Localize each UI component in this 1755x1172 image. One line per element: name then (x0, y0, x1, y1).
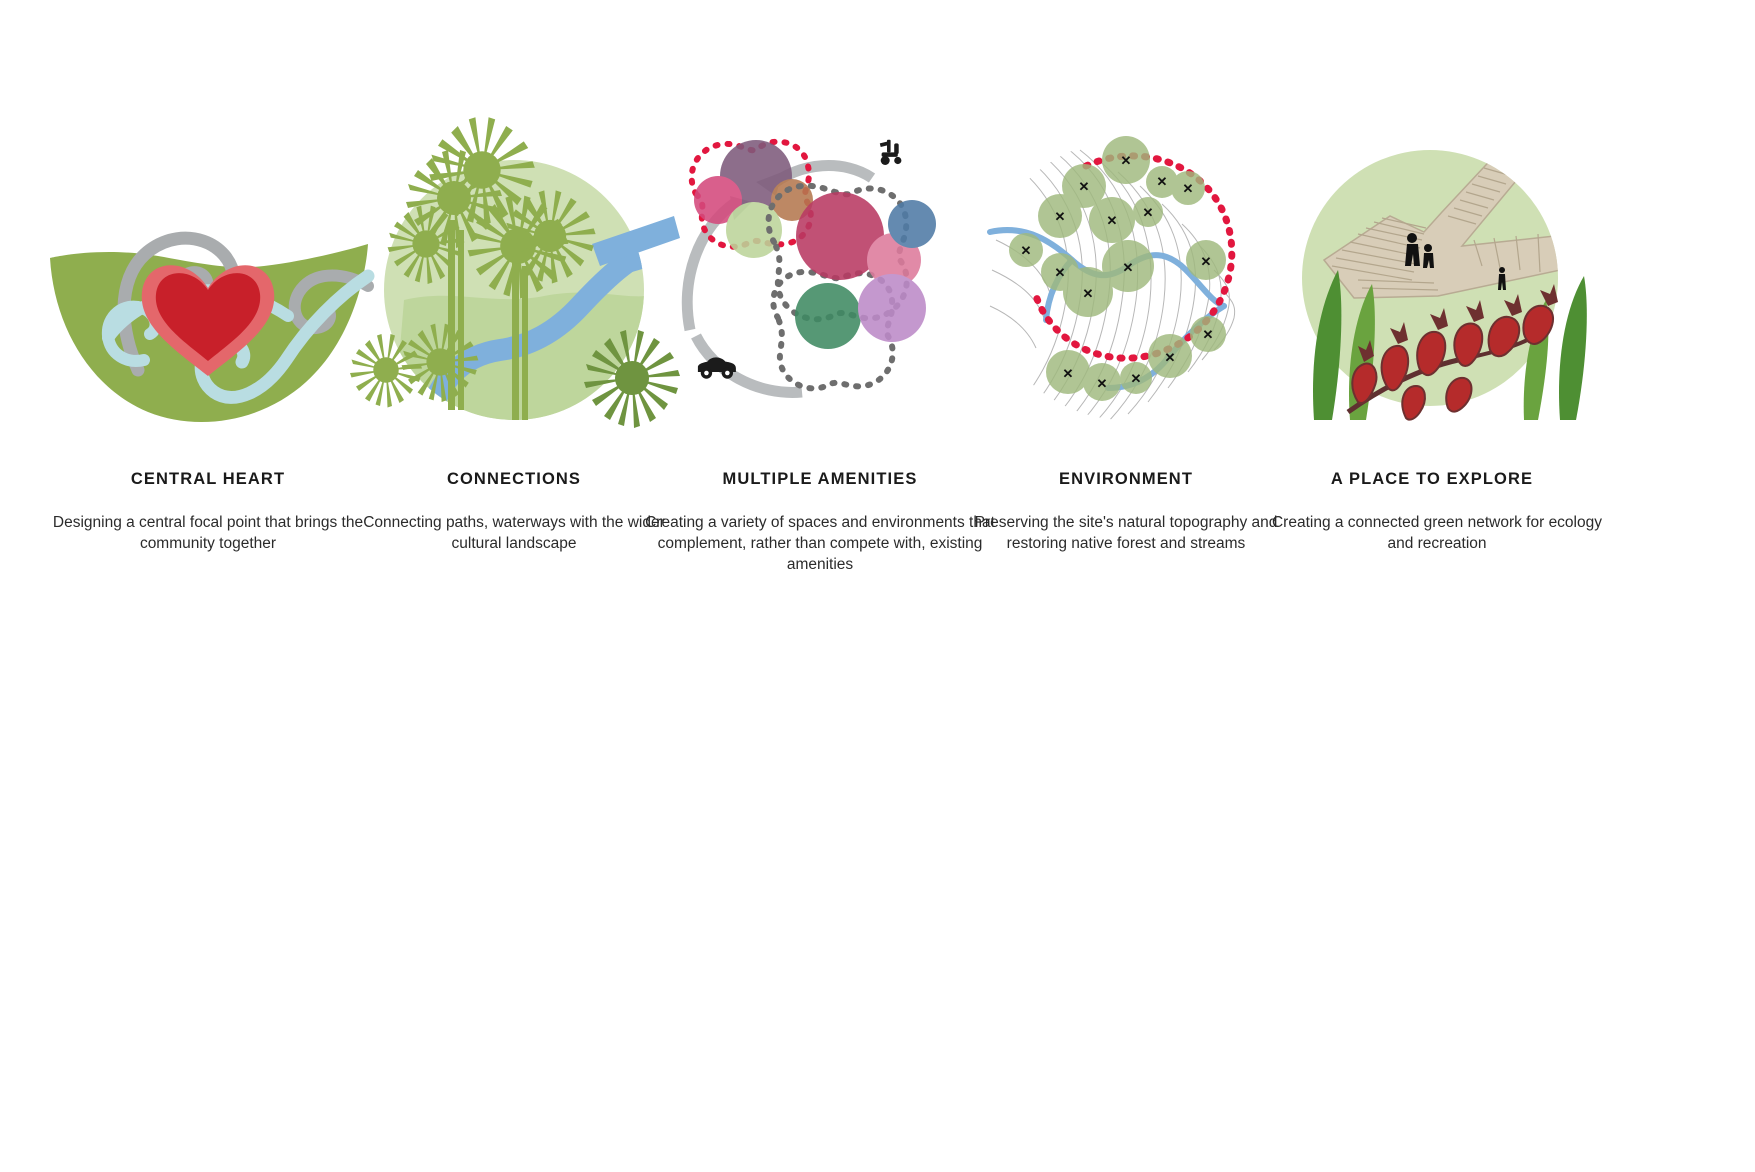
svg-text:✕: ✕ (1157, 174, 1168, 189)
concept-description-central-heart: Designing a central focal point that bri… (38, 512, 378, 554)
svg-text:✕: ✕ (1143, 205, 1154, 220)
bubble-dark-green (795, 283, 861, 349)
svg-text:✕: ✕ (1183, 181, 1194, 196)
tree-canopy-group: ✕✕✕ ✕✕✕ ✕✕✕ ✕✕✕ ✕✕✕ ✕✕ (1009, 136, 1226, 401)
concept-description-environment: Preserving the site's natural topography… (952, 512, 1300, 554)
bubble-blue (888, 200, 936, 248)
bubble-lilac (858, 274, 926, 342)
svg-text:✕: ✕ (1203, 327, 1214, 342)
bubble-cluster-diagram-illustration (650, 120, 990, 440)
svg-text:✕: ✕ (1063, 366, 1074, 381)
car-icon (698, 357, 736, 378)
bubble-light-green (726, 202, 782, 258)
bubble-group-right (795, 192, 936, 349)
concept-title-multiple-amenities: MULTIPLE AMENITIES (650, 470, 990, 489)
concept-column-environment: ✕✕✕ ✕✕✕ ✕✕✕ ✕✕✕ ✕✕✕ ✕✕ ENVIRONMENT Prese… (956, 0, 1296, 640)
concept-column-connections: CONNECTIONS Connecting paths, waterways … (344, 0, 684, 640)
svg-text:✕: ✕ (1121, 153, 1132, 168)
concept-column-central-heart: CENTRAL HEART Designing a central focal … (38, 0, 378, 640)
svg-text:✕: ✕ (1107, 213, 1118, 228)
svg-text:✕: ✕ (1055, 209, 1066, 224)
svg-text:✕: ✕ (1079, 179, 1090, 194)
contour-trees-stream-illustration: ✕✕✕ ✕✕✕ ✕✕✕ ✕✕✕ ✕✕✕ ✕✕ (956, 120, 1296, 440)
concept-column-a-place-to-explore: A PLACE TO EXPLORE Creating a connected … (1262, 0, 1602, 640)
mobility-scooter-icon (880, 140, 902, 165)
svg-text:✕: ✕ (1165, 350, 1176, 365)
svg-text:✕: ✕ (1055, 265, 1066, 280)
svg-text:✕: ✕ (1131, 371, 1142, 386)
concept-title-central-heart: CENTRAL HEART (38, 470, 378, 489)
concept-title-a-place-to-explore: A PLACE TO EXPLORE (1262, 470, 1602, 489)
concept-diagram-board: CENTRAL HEART Designing a central focal … (0, 0, 1755, 1172)
svg-text:✕: ✕ (1097, 376, 1108, 391)
cabbage-tree-river-illustration (344, 120, 684, 440)
concept-description-a-place-to-explore: Creating a connected green network for e… (1262, 512, 1612, 554)
concept-description-connections: Connecting paths, waterways with the wid… (344, 512, 684, 554)
heart-koru-illustration (38, 120, 378, 440)
concept-title-environment: ENVIRONMENT (956, 470, 1296, 489)
concept-title-connections: CONNECTIONS (344, 470, 684, 489)
boardwalk-flax-illustration (1262, 120, 1602, 440)
svg-text:✕: ✕ (1201, 254, 1212, 269)
concept-description-multiple-amenities: Creating a variety of spaces and environ… (644, 512, 996, 575)
svg-text:✕: ✕ (1021, 243, 1032, 258)
concept-column-multiple-amenities: MULTIPLE AMENITIES Creating a variety of… (650, 0, 990, 640)
svg-text:✕: ✕ (1083, 286, 1094, 301)
svg-text:✕: ✕ (1123, 260, 1134, 275)
